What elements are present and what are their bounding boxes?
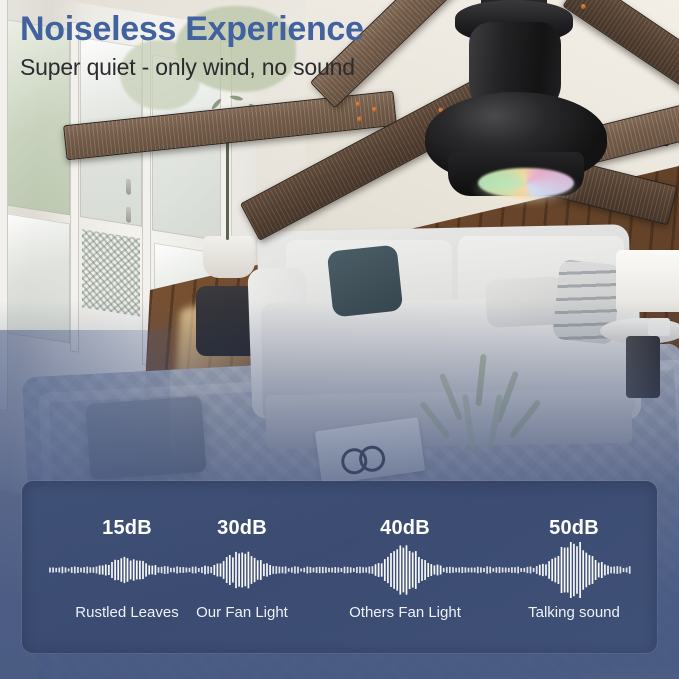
db-value-0: 15dB xyxy=(102,517,152,540)
led-light-ring xyxy=(478,168,574,198)
fan-blade xyxy=(562,0,679,91)
db-caption-0: Rustled Leaves xyxy=(75,604,178,621)
olive-branch xyxy=(418,350,548,460)
product-image: Noiseless Experience Super quiet - only … xyxy=(0,0,679,679)
db-value-3: 50dB xyxy=(549,517,599,540)
page-subtitle: Super quiet - only wind, no sound xyxy=(20,54,355,81)
side-table-base xyxy=(626,336,660,398)
db-caption-1: Our Fan Light xyxy=(196,604,288,621)
ottoman xyxy=(85,396,206,480)
db-caption-2: Others Fan Light xyxy=(349,604,461,621)
page-title: Noiseless Experience xyxy=(20,10,364,49)
waveform-graphic xyxy=(48,541,632,599)
db-value-2: 40dB xyxy=(380,517,430,540)
db-caption-3: Talking sound xyxy=(528,604,620,621)
candle xyxy=(648,318,670,336)
db-value-1: 30dB xyxy=(217,517,267,540)
